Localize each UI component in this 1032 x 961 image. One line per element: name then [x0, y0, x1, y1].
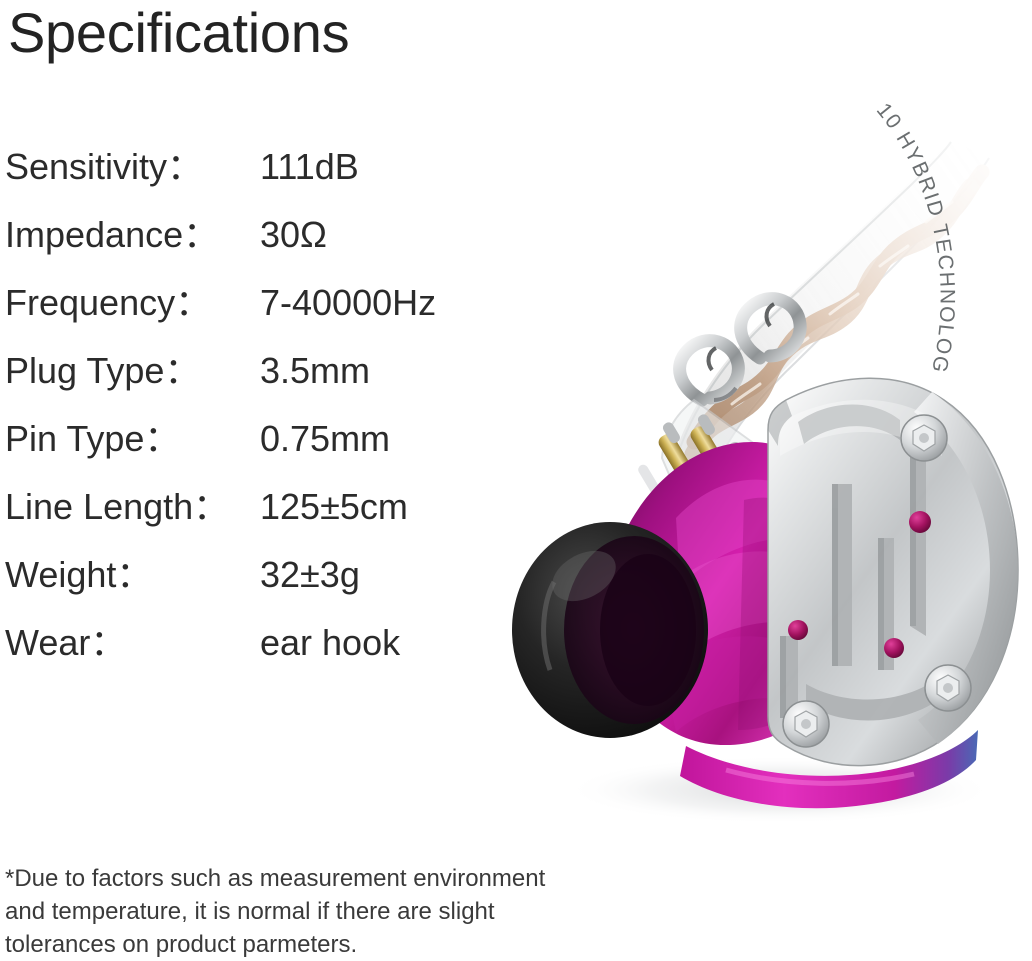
spec-value: ear hook	[260, 618, 400, 668]
spec-row-pin-type: Pin Type： 0.75mm	[5, 414, 475, 482]
spec-label: Impedance：	[5, 210, 219, 260]
spec-row-frequency: Frequency： 7-40000Hz	[5, 278, 475, 346]
spec-row-line-length: Line Length： 125±5cm	[5, 482, 475, 550]
spec-row-sensitivity: Sensitivity： 111dB	[5, 142, 475, 210]
spec-label: Wear：	[5, 618, 126, 668]
spec-row-weight: Weight： 32±3g	[5, 550, 475, 618]
spec-row-impedance: Impedance： 30Ω	[5, 210, 475, 278]
spec-row-wear: Wear： ear hook	[5, 618, 475, 686]
hex-screw-bottom-left	[783, 701, 829, 747]
spec-label: Frequency：	[5, 278, 211, 328]
specifications-page: Specifications Sensitivity： 111dB Impeda…	[0, 0, 1032, 961]
disclaimer-footnote: *Due to factors such as measurement envi…	[5, 862, 565, 961]
spec-row-plug-type: Plug Type： 3.5mm	[5, 346, 475, 414]
silicone-ear-tip	[512, 522, 708, 738]
spec-value: 3.5mm	[260, 346, 370, 396]
hex-screw-bottom-right	[925, 665, 971, 711]
product-photo-earphone: 10 HYBRID TECHNOLOGY	[480, 70, 1032, 860]
spec-value: 32±3g	[260, 550, 360, 600]
specifications-table: Sensitivity： 111dB Impedance： 30Ω Freque…	[5, 142, 475, 686]
spec-label: Pin Type：	[5, 414, 180, 464]
spec-label: Plug Type：	[5, 346, 200, 396]
spec-value: 111dB	[260, 142, 359, 192]
spec-label: Sensitivity：	[5, 142, 203, 192]
hex-screw-top	[901, 415, 947, 461]
page-title: Specifications	[8, 2, 349, 64]
spec-value: 0.75mm	[260, 414, 390, 464]
spec-value: 7-40000Hz	[260, 278, 436, 328]
spec-value: 125±5cm	[260, 482, 408, 532]
spec-label: Weight：	[5, 550, 152, 600]
spec-value: 30Ω	[260, 210, 327, 260]
spec-label: Line Length：	[5, 482, 229, 532]
